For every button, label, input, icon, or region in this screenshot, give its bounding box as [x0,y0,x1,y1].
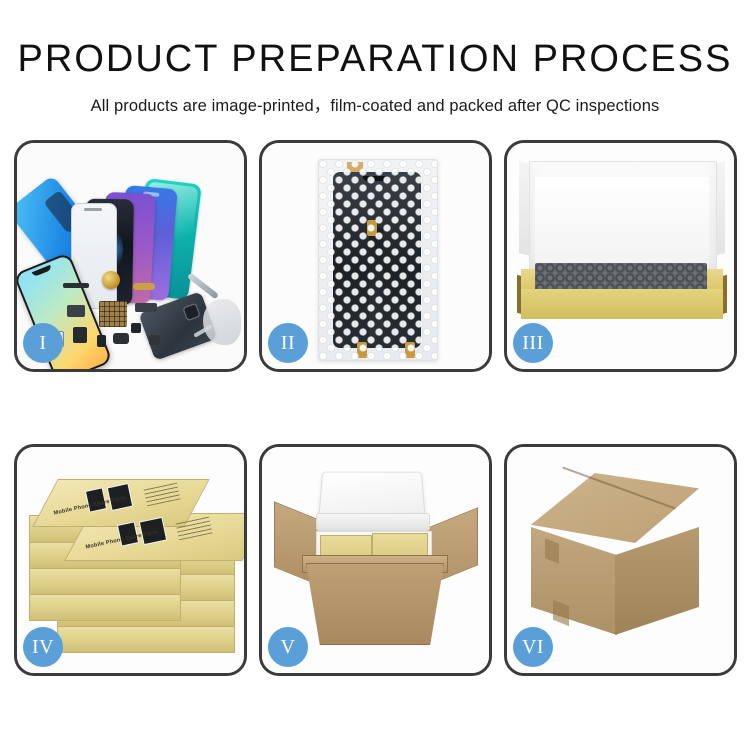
page-subtitle: All products are image-printed，film-coat… [0,92,750,116]
stacked-box-icon [29,567,181,595]
part-flex-cable-icon [135,303,157,312]
process-step-card-2: II [259,140,492,372]
step-badge-5: V [268,627,308,667]
foam-lid-edge-icon [316,513,430,531]
process-steps-grid: I II [14,140,736,676]
hand-icon [203,299,241,345]
carton-front-face-icon [531,527,617,635]
process-step-card-6: VI [504,444,737,676]
part-gold-flex-icon [133,283,155,290]
bubble-wrap-bag-icon [318,159,438,361]
process-step-card-3: III [504,140,737,372]
part-button-icon [97,335,106,347]
process-step-card-5: V [259,444,492,676]
step-badge-3: III [513,323,553,363]
kraft-box-front-icon [521,289,723,319]
step-badge-4: IV [23,627,63,667]
step-badge-1: I [23,323,63,363]
part-camera-icon [113,333,129,344]
part-connector-icon [67,305,85,317]
foam-sheet-icon [535,177,709,271]
step-badge-6: VI [513,627,553,667]
carton-body-icon [306,563,444,645]
part-small-chip-icon [131,323,141,333]
box-stack-icon: Mobile Phone Spare Parts Mobile Phone Sp… [27,461,237,661]
part-module-icon [73,327,87,343]
stacked-box-icon [29,593,181,621]
chip-array-icon [99,301,127,327]
process-step-card-1: I [14,140,247,372]
part-speaker-icon [63,283,89,288]
page-header: PRODUCT PREPARATION PROCESS All products… [0,0,750,116]
carton-side-face-icon [615,527,699,635]
process-step-card-4: Mobile Phone Spare Parts Mobile Phone Sp… [14,444,247,676]
copper-coil-icon [102,271,120,289]
stacked-box-icon [57,625,235,653]
product-preparation-process-page: PRODUCT PREPARATION PROCESS All products… [0,0,750,750]
page-title: PRODUCT PREPARATION PROCESS [0,40,750,78]
bubble-texture-icon [319,160,437,360]
part-bracket-icon [149,335,160,345]
step-badge-2: II [268,323,308,363]
